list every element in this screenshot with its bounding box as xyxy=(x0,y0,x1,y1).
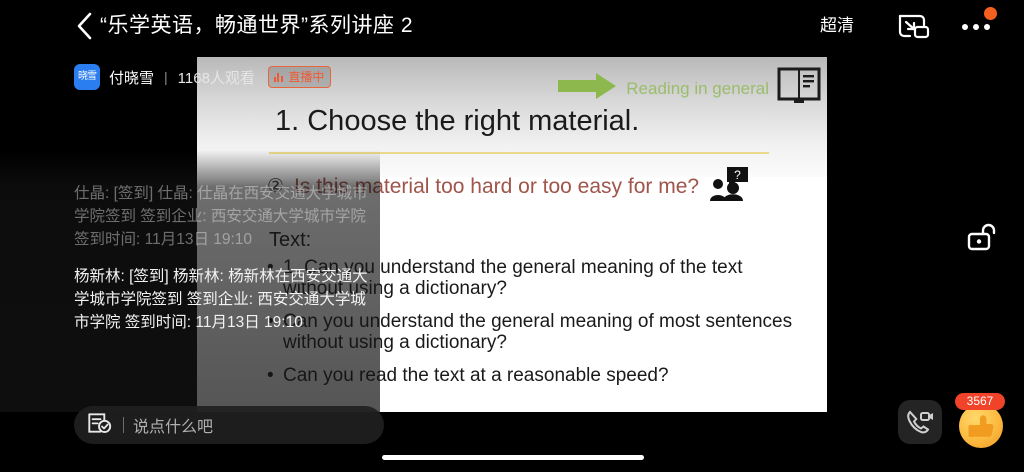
quality-selector-button[interactable]: 超清 xyxy=(820,14,854,38)
list-item: 杨新林: [签到] 杨新林: 杨新林在西安交通大学城市学院签到 签到企业: 西安… xyxy=(74,265,380,334)
streamer-info-row[interactable]: 晓雪 付晓雪 | 1168人观看 直播中 xyxy=(74,64,331,90)
chat-input-placeholder: 说点什么吧 xyxy=(133,413,213,437)
live-bars-icon xyxy=(274,72,285,82)
back-button[interactable] xyxy=(72,10,98,42)
input-divider xyxy=(123,417,124,433)
top-bar: “乐学英语，畅通世界”系列讲座 2 超清 xyxy=(0,0,1024,52)
chat-message-list[interactable]: 仕晶: [签到] 仕晶: 仕晶在西安交通大学城市学院签到 签到企业: 西安交通大… xyxy=(74,182,380,348)
status-badge: 直播中 xyxy=(268,66,332,88)
notification-badge-dot xyxy=(984,7,997,20)
svg-text:?: ? xyxy=(734,168,741,182)
slide-title: 1. Choose the right material. xyxy=(275,105,639,138)
page-title: “乐学英语，畅通世界”系列讲座 2 xyxy=(100,11,413,41)
info-separator: | xyxy=(164,69,168,85)
thumbs-up-icon xyxy=(959,404,1003,448)
more-options-button[interactable] xyxy=(962,16,1006,38)
like-button[interactable]: 3567 xyxy=(958,400,1006,448)
picture-in-picture-icon xyxy=(898,12,930,40)
people-question-icon: ? xyxy=(709,167,749,206)
live-badge-label: 直播中 xyxy=(288,68,324,85)
screen-lock-button[interactable] xyxy=(963,219,1001,257)
more-dot xyxy=(984,24,990,30)
green-right-arrow-icon xyxy=(558,73,616,104)
unlocked-padlock-icon xyxy=(963,219,1001,257)
viewer-count: 1168人观看 xyxy=(178,67,255,88)
list-item: 仕晶: [签到] 仕晶: 仕晶在西安交通大学城市学院签到 签到企业: 西安交通大… xyxy=(74,182,380,251)
live-stream-screen: Reading in general 1. Choose the right m… xyxy=(0,0,1024,472)
more-dot xyxy=(973,24,979,30)
more-horizontal-icon xyxy=(962,24,968,30)
picture-in-picture-button[interactable] xyxy=(898,12,930,40)
signin-check-icon[interactable] xyxy=(88,412,112,439)
avatar[interactable]: 晓雪 xyxy=(74,64,100,90)
like-count-badge: 3567 xyxy=(955,393,1005,410)
streamer-name: 付晓雪 xyxy=(109,67,154,88)
video-call-button[interactable] xyxy=(898,400,942,444)
chat-input-bar[interactable]: 说点什么吧 xyxy=(74,406,384,444)
list-item: Can you read the text at a reasonable sp… xyxy=(265,365,805,386)
slide-header-label: Reading in general xyxy=(626,79,769,99)
video-call-icon xyxy=(906,409,934,435)
open-book-icon xyxy=(777,66,821,111)
home-indicator xyxy=(382,455,644,460)
slide-title-rule xyxy=(269,152,769,154)
chevron-left-icon xyxy=(72,10,98,42)
